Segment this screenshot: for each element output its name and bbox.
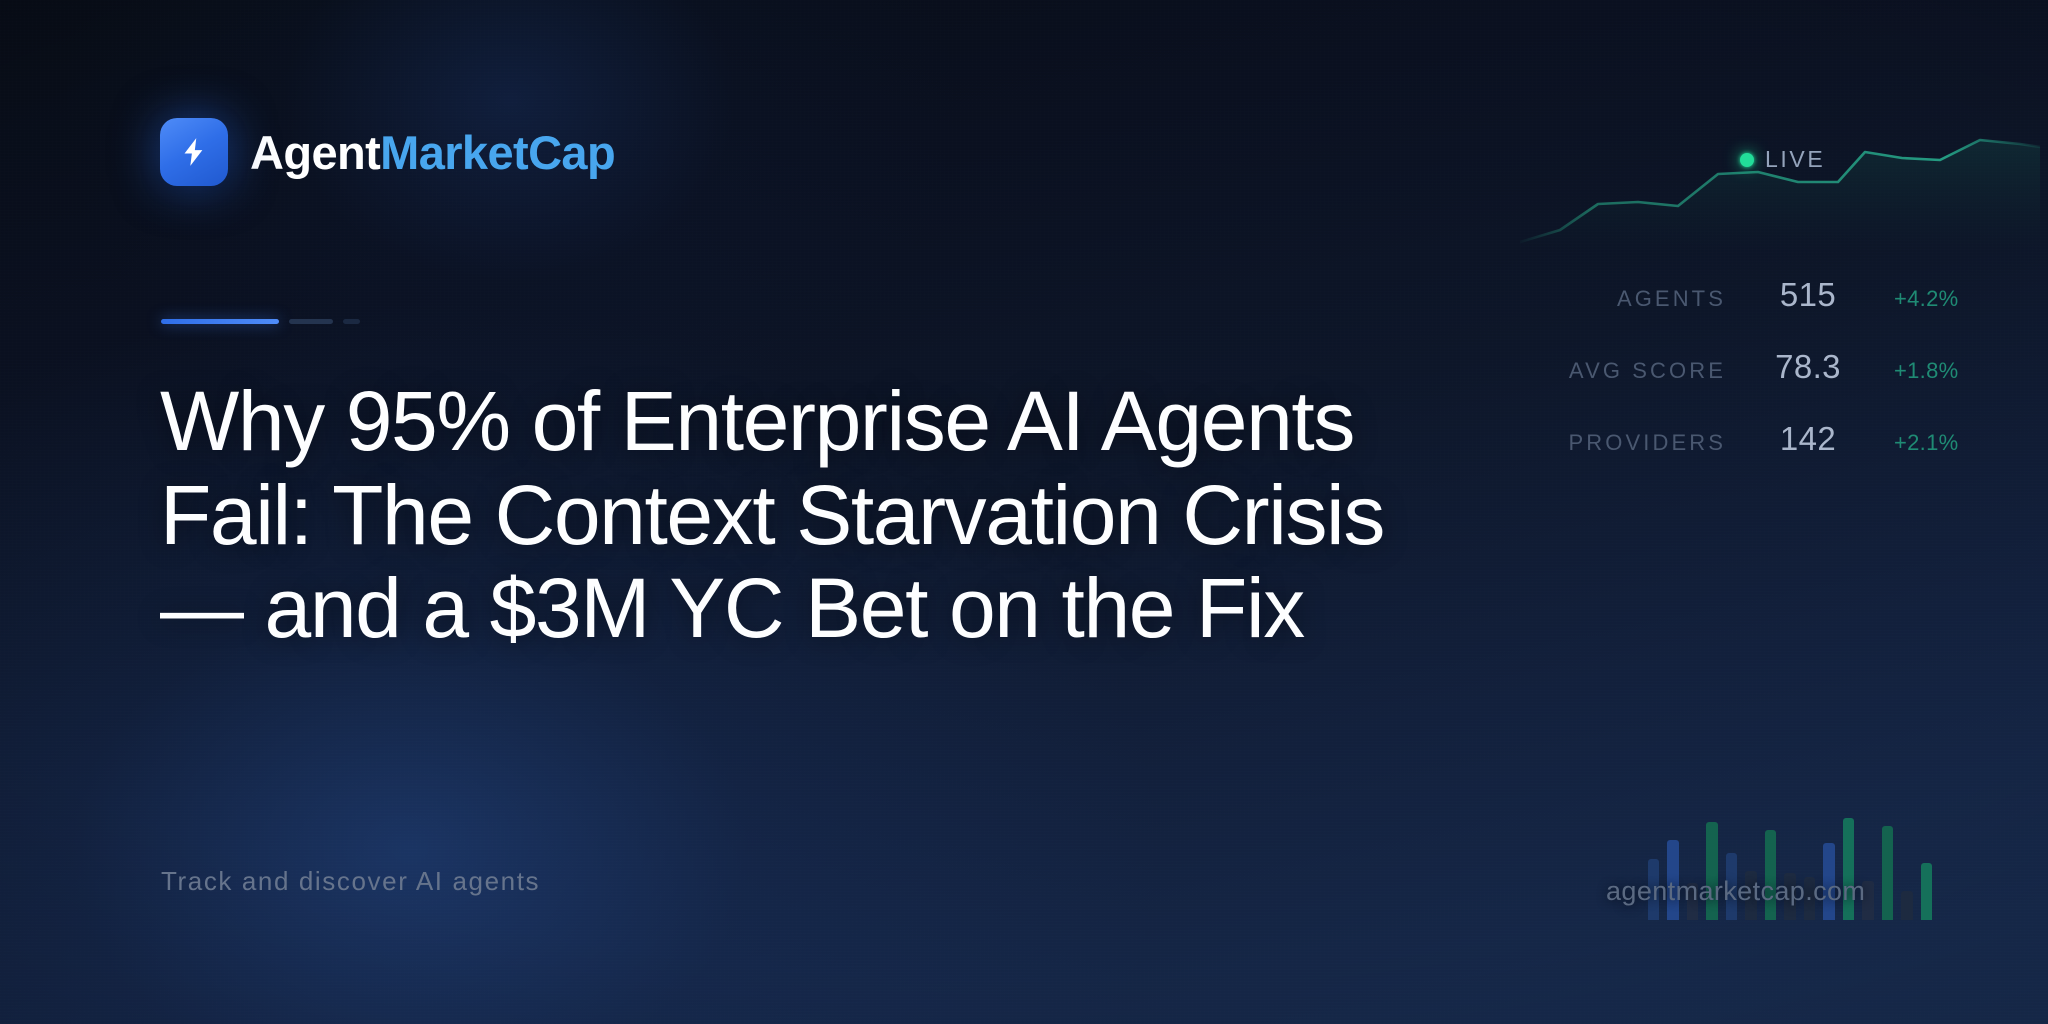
live-label: LIVE — [1765, 146, 1825, 173]
status-badge: LIVE — [1740, 146, 1825, 173]
tagline: Track and discover AI agents — [161, 866, 540, 897]
brand-name: AgentMarketCap — [250, 129, 615, 176]
stat-delta: +2.1% — [1868, 430, 2048, 456]
accent-rule-segment-muted-1 — [289, 319, 333, 324]
stat-value: 515 — [1748, 276, 1868, 314]
stat-row-providers: PROVIDERS 142 +2.1% — [1488, 420, 2048, 492]
stat-value: 78.3 — [1748, 348, 1868, 386]
lightning-bolt-icon — [160, 118, 228, 186]
social-share-card: AgentMarketCap Why 95% of Enterprise AI … — [0, 0, 2048, 1024]
accent-rule-segment-active — [161, 319, 279, 324]
stat-row-agents: AGENTS 515 +4.2% — [1488, 276, 2048, 348]
stat-label: AVG SCORE — [1488, 358, 1748, 384]
stat-delta: +1.8% — [1868, 358, 2048, 384]
brand-lockup[interactable]: AgentMarketCap — [160, 118, 615, 186]
stat-value: 142 — [1748, 420, 1868, 458]
stats-list: AGENTS 515 +4.2% AVG SCORE 78.3 +1.8% PR… — [1488, 276, 2048, 492]
page-title: Why 95% of Enterprise AI Agents Fail: Th… — [160, 375, 1420, 656]
stat-row-avg-score: AVG SCORE 78.3 +1.8% — [1488, 348, 2048, 420]
live-dot-icon — [1740, 153, 1754, 167]
accent-rule — [161, 319, 360, 324]
brand-name-primary: Agent — [250, 126, 380, 179]
stat-label: PROVIDERS — [1488, 430, 1748, 456]
accent-rule-segment-muted-2 — [343, 319, 360, 324]
stat-delta: +4.2% — [1868, 286, 2048, 312]
stat-label: AGENTS — [1488, 286, 1748, 312]
site-url: agentmarketcap.com — [1606, 876, 1946, 907]
brand-name-secondary: MarketCap — [380, 126, 615, 179]
